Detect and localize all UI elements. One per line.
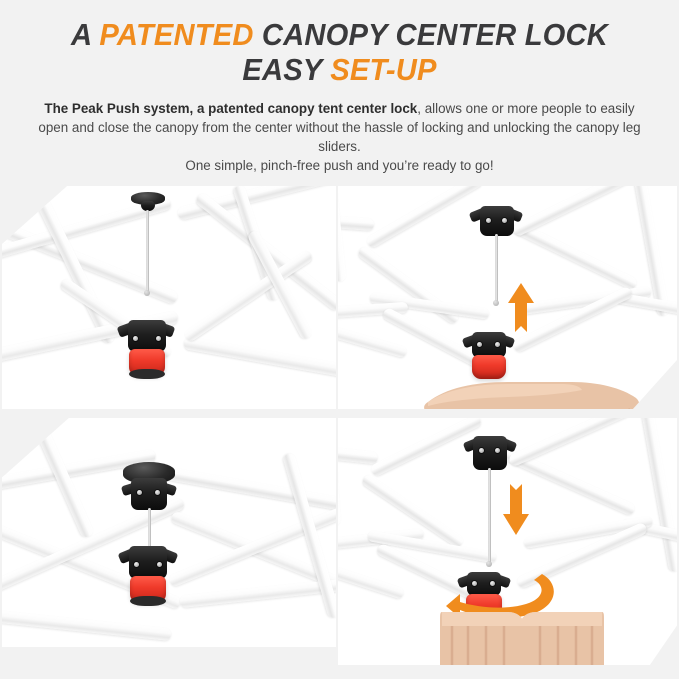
frame-bar [338,186,347,282]
canopy-frame-scene-3 [2,418,336,647]
title-accent-set-up: SET-UP [330,52,436,87]
center-lock-hub-bolt [134,562,139,567]
page-title-line-1: A PATENTED CANOPY CENTER LOCK [41,18,638,51]
center-lock-red-cap [129,369,165,379]
description-paragraph: The Peak Push system, a patented canopy … [35,99,645,175]
page-title-line-2: EASY SET-UP [41,53,638,86]
frame-bar [640,418,677,572]
center-lock-hub-bolt [157,562,162,567]
center-lock-top-hub-body [131,478,167,510]
header: A PATENTED CANOPY CENTER LOCK EASY SET-U… [0,0,679,175]
title-accent-patented: PATENTED [99,17,253,52]
center-lock-rod [488,468,491,563]
canopy-frame-scene-4 [338,418,677,665]
center-lock-hub-bolt [477,342,482,347]
center-lock-top-hub-bolt [502,218,507,223]
center-lock-top-hub-bolt [137,490,142,495]
frame-bar [338,558,405,599]
frame-bar [365,186,484,249]
frame-bar [183,336,336,380]
center-lock-top-hub-bolt [486,218,491,223]
title-text-easy: EASY [242,52,330,87]
frame-bar [508,418,632,467]
frame-bar [179,577,336,608]
frame-bar [2,608,172,641]
center-lock-top-hub-bolt [495,448,500,453]
center-lock-top-hub-body [473,436,507,470]
title-text-a: A [71,17,99,52]
canopy-frame-scene-1 [2,186,336,409]
center-lock-rod-tip [493,300,499,306]
center-lock-rod [495,234,498,302]
frame-bar [183,249,314,343]
frame-bar [511,186,633,237]
center-lock-red-cap [130,596,166,606]
description-line-4: One simple, pinch-free push and you’re r… [185,158,493,173]
description-lead: The Peak Push system, a patented canopy … [44,101,417,116]
panel-bottom-left [2,418,336,647]
arrow-up-icon [505,282,537,338]
frame-bar [338,418,341,526]
arrow-down-icon [500,476,532,536]
panel-bottom-right [338,418,677,665]
center-lock-hub-bolt [133,336,138,341]
center-lock-rod [146,210,149,292]
panel-top-left [2,186,336,409]
title-text-canopy-center-lock: CANOPY CENTER LOCK [254,17,608,52]
center-lock-top-hub-bolt [479,448,484,453]
center-lock-hub-bolt [156,336,161,341]
center-lock-rod-tip [144,290,150,296]
panel-top-right [338,186,677,409]
frame-bar [161,466,336,512]
center-lock-top-hub-bolt [155,490,160,495]
frame-bar [338,444,378,464]
hand-grip-right [496,606,606,665]
center-lock-hub-bolt [495,342,500,347]
image-panel-grid [0,186,679,679]
hand-open-palm [422,366,642,409]
frame-bar [338,214,374,231]
center-lock-rod [148,508,151,550]
canopy-frame-scene-2 [338,186,677,409]
